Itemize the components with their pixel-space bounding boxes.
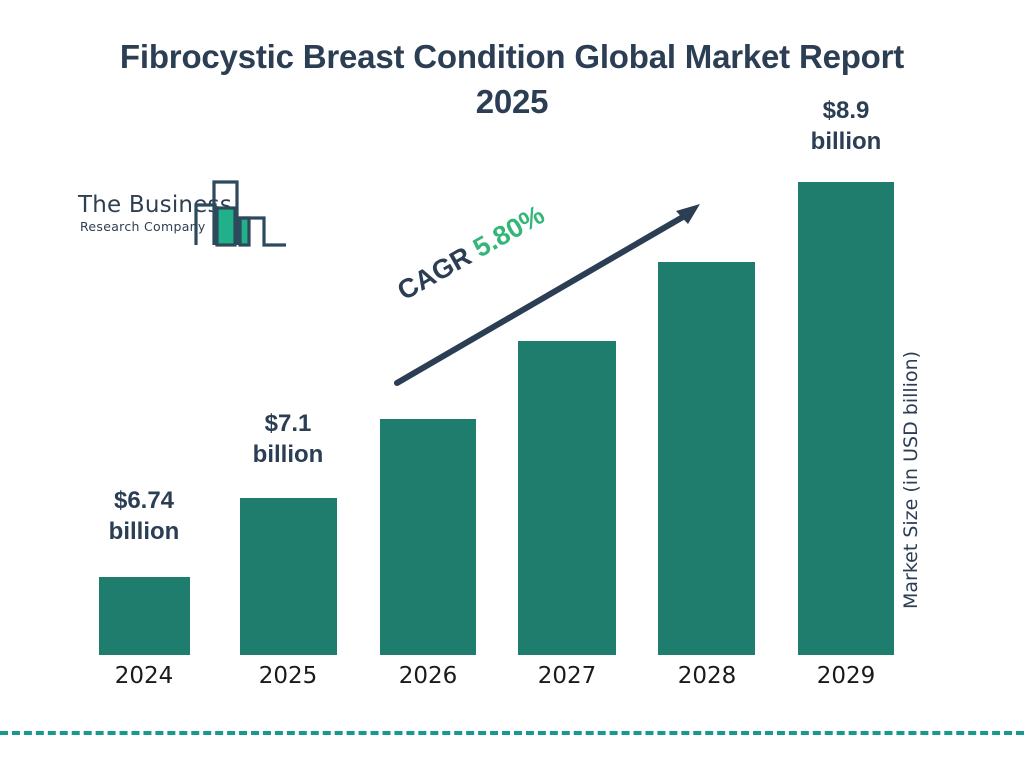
x-tick-2026: 2026 [358, 663, 498, 689]
bar-2027[interactable] [518, 341, 616, 655]
x-tick-2027: 2027 [497, 663, 637, 689]
footer-divider [0, 731, 1024, 735]
y-axis-title: Market Size (in USD billion) [900, 300, 922, 660]
bar-2028[interactable] [658, 262, 755, 655]
chart-page: Fibrocystic Breast Condition Global Mark… [0, 0, 1024, 768]
bar-value-2029: $8.9 billion [776, 95, 916, 157]
x-tick-2024: 2024 [74, 663, 214, 689]
x-tick-2028: 2028 [637, 663, 777, 689]
x-tick-2025: 2025 [218, 663, 358, 689]
x-tick-2029: 2029 [776, 663, 916, 689]
bar-2025[interactable] [240, 498, 337, 655]
bar-value-2025: $7.1 billion [218, 408, 358, 470]
bar-2029[interactable] [798, 182, 894, 655]
bar-2026[interactable] [380, 419, 476, 655]
bar-value-2024: $6.74 billion [74, 485, 214, 547]
bar-2024[interactable] [99, 577, 190, 655]
